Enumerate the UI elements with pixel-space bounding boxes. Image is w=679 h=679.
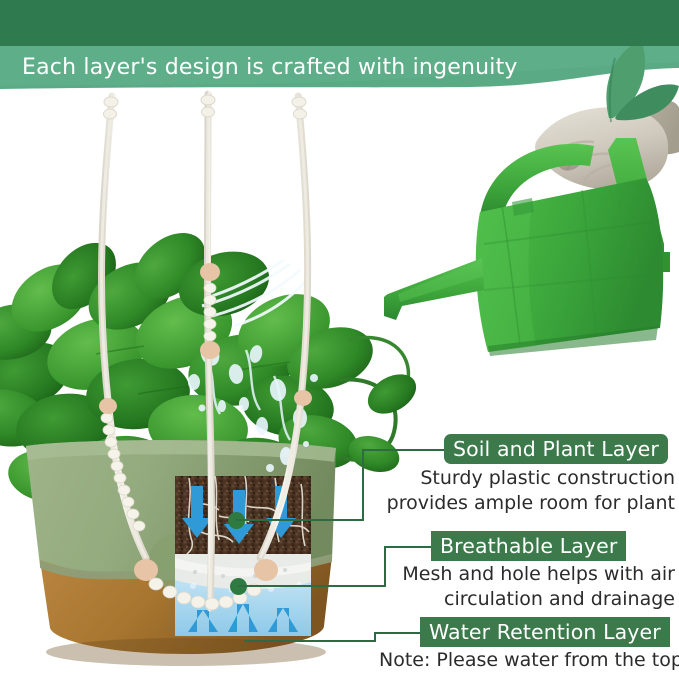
callout-leader-soil-top	[362, 449, 446, 451]
callout-leader-water-top	[374, 632, 422, 634]
badge-breathable-layer[interactable]: Breathable Layer	[431, 531, 626, 561]
callout-leader-soil-vertical	[362, 449, 364, 521]
header-subtitle: Each layer's design is crafted with inge…	[0, 46, 679, 88]
callout-leader-breathable	[238, 585, 386, 587]
callout-leader-soil	[236, 519, 364, 521]
callout-leader-water	[244, 640, 376, 642]
callout-leader-breathable-vertical	[384, 546, 386, 587]
badge-water-retention-layer[interactable]: Water Retention Layer	[420, 617, 670, 647]
product-scene	[0, 88, 679, 679]
badge-soil-and-plant-layer[interactable]: Soil and Plant Layer	[444, 434, 668, 464]
infographic-root: VERSATILE DESIGN SELF WATERING POTS FOR …	[0, 0, 679, 679]
watering-can	[384, 94, 679, 384]
macrame-rope-hanger	[60, 88, 360, 648]
header-dark-band	[0, 0, 679, 46]
